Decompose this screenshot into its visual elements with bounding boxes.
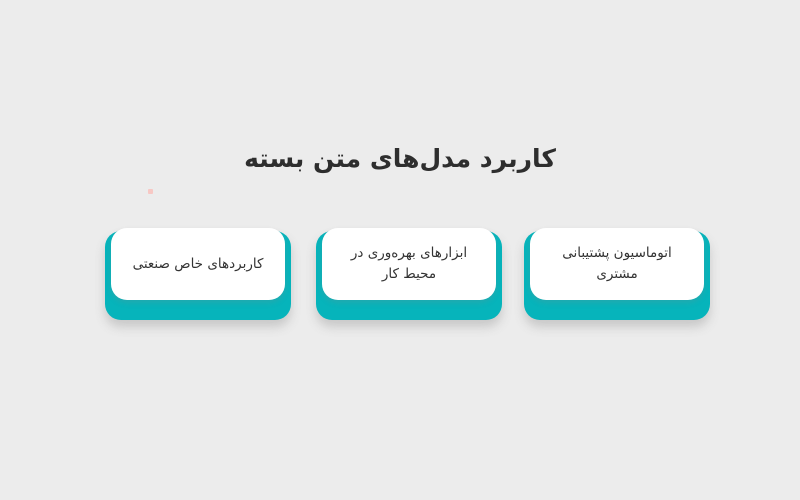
card-industrial[interactable]: کاربردهای خاص صنعتی bbox=[105, 228, 291, 320]
card-support-automation[interactable]: اتوماسیون پشتیبانی مشتری bbox=[524, 228, 710, 320]
card-row: کاربردهای خاص صنعتی ابزارهای بهره‌وری در… bbox=[0, 0, 800, 500]
card-label: کاربردهای خاص صنعتی bbox=[121, 254, 275, 275]
card-label: ابزارهای بهره‌وری در محیط کار bbox=[332, 243, 486, 285]
infographic-canvas: کاربرد مدل‌های متن بسته کاربردهای خاص صن… bbox=[0, 0, 800, 500]
card-label: اتوماسیون پشتیبانی مشتری bbox=[540, 243, 694, 285]
card-productivity[interactable]: ابزارهای بهره‌وری در محیط کار bbox=[316, 228, 502, 320]
card-surface: کاربردهای خاص صنعتی bbox=[111, 228, 285, 300]
card-surface: اتوماسیون پشتیبانی مشتری bbox=[530, 228, 704, 300]
card-surface: ابزارهای بهره‌وری در محیط کار bbox=[322, 228, 496, 300]
